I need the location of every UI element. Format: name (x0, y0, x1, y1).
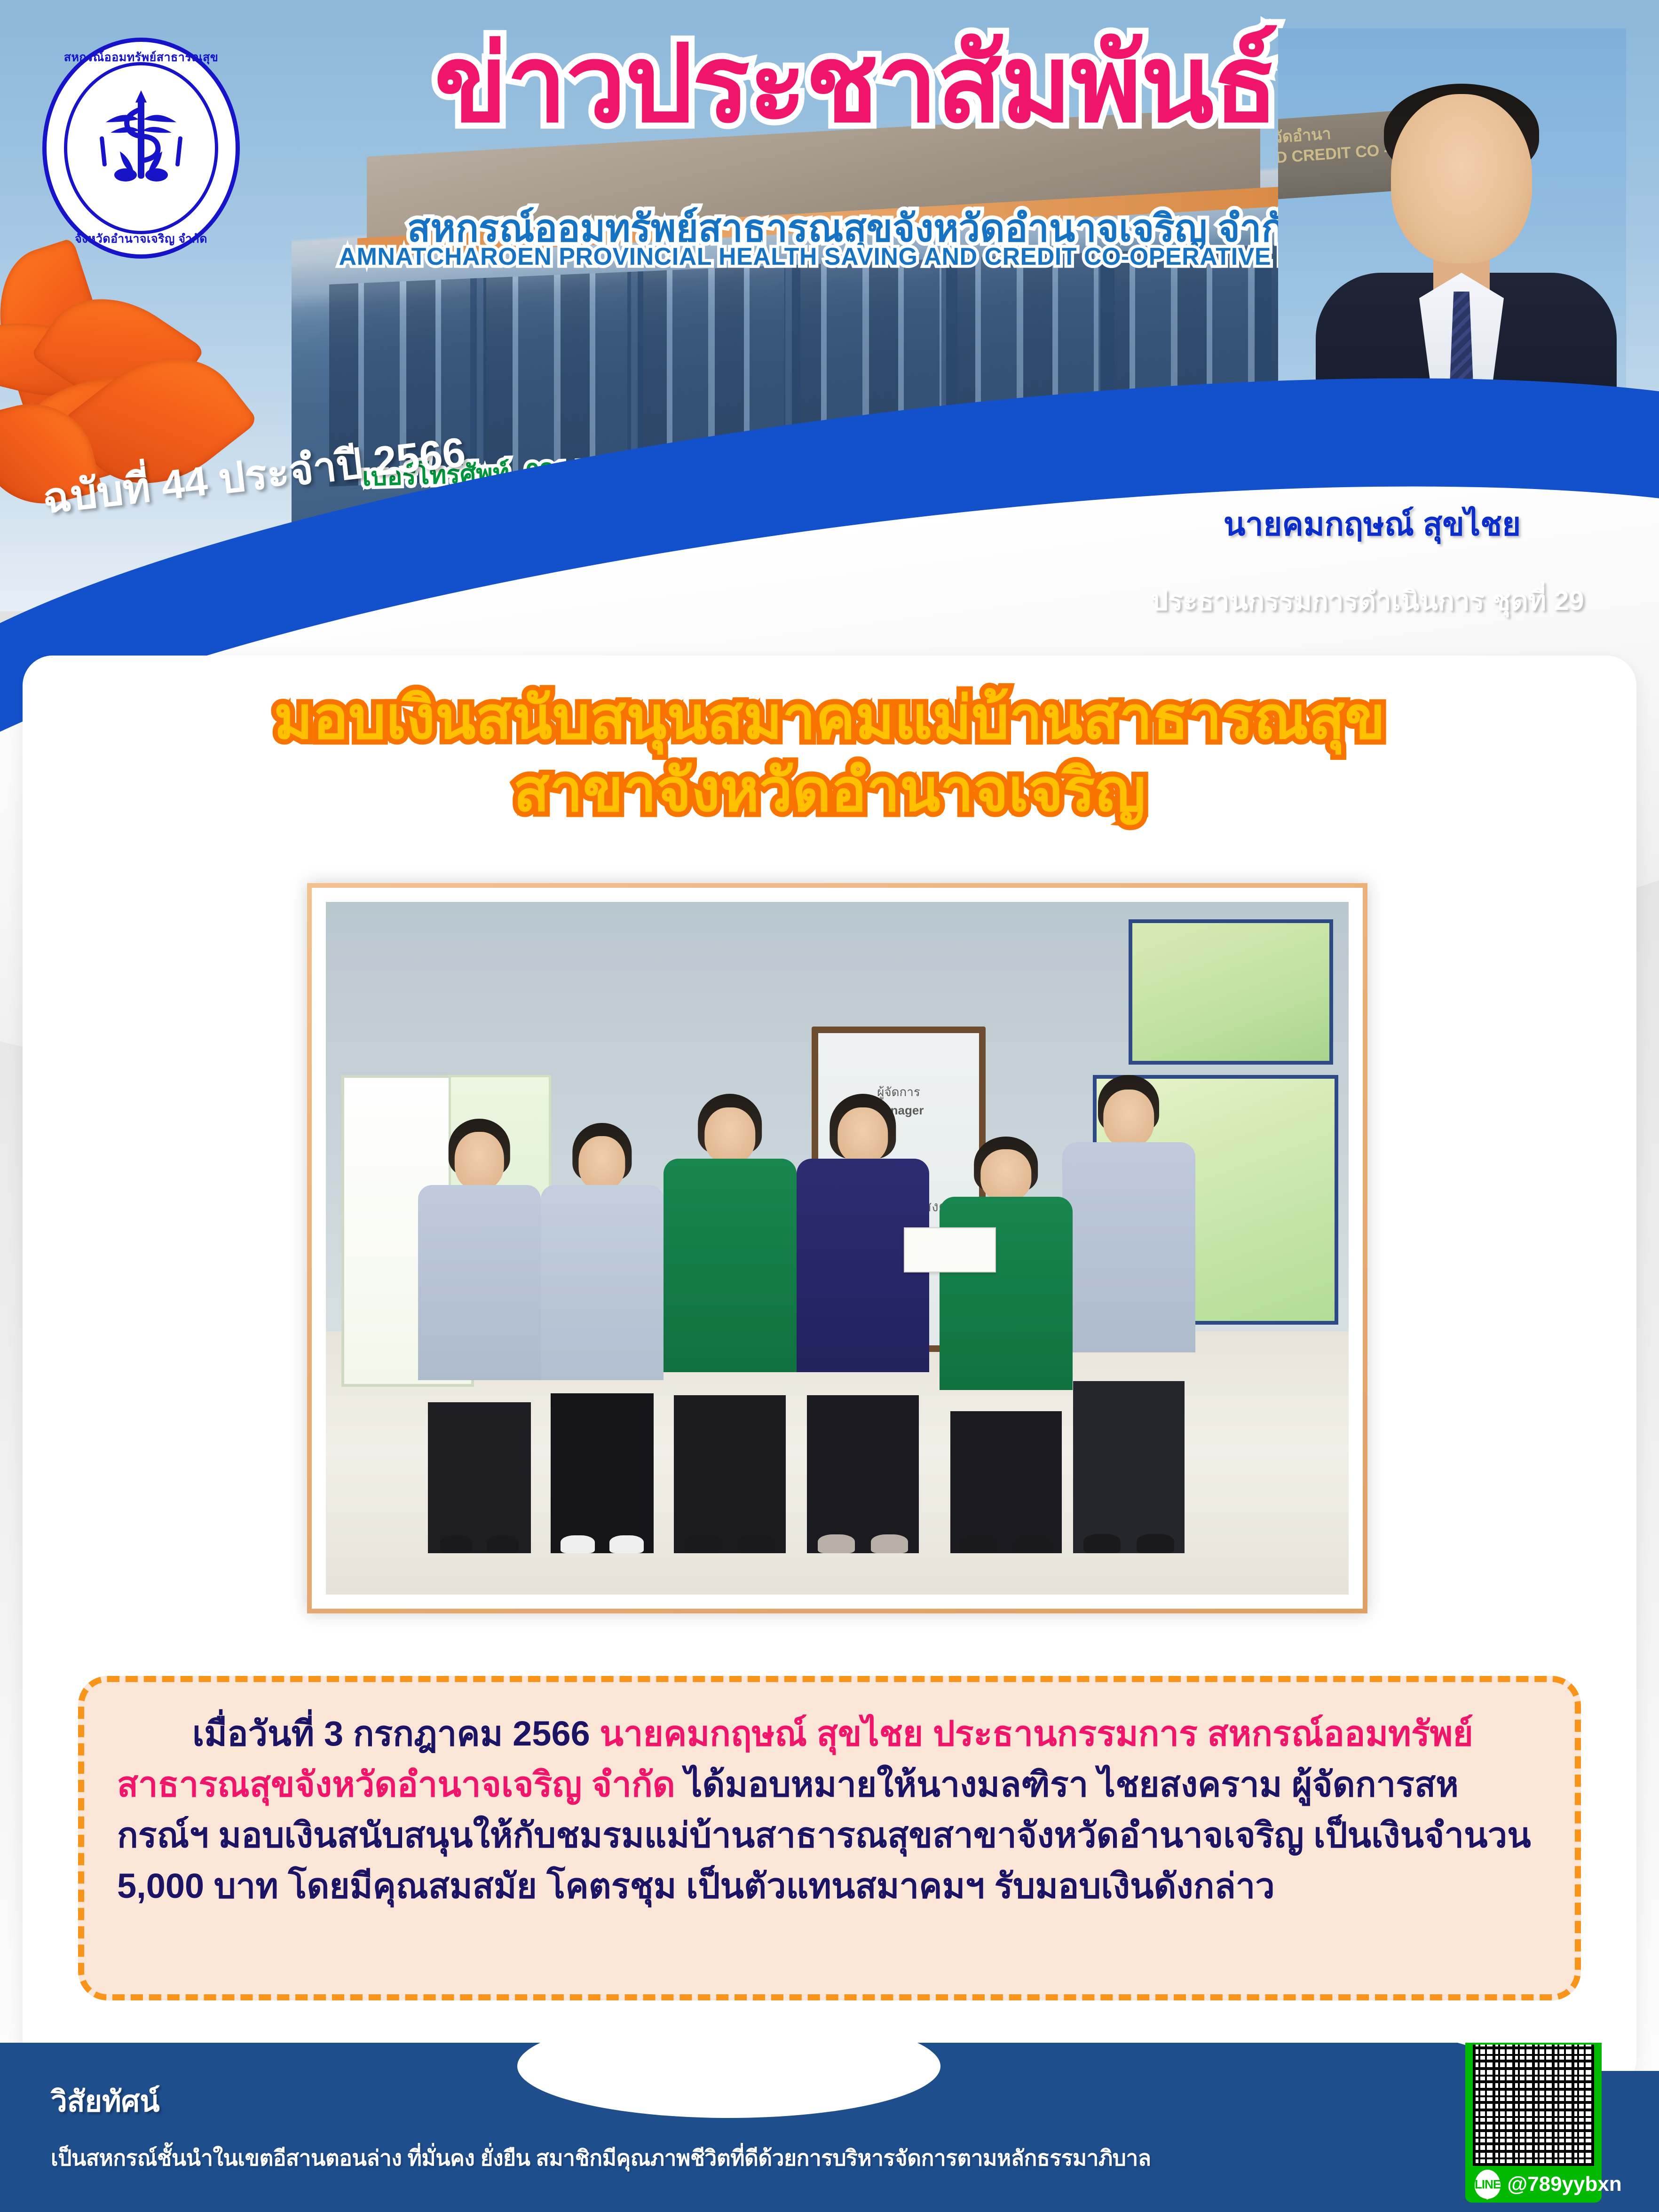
president-role: ประธานกรรมการดำเนินการ ชุดที่ 29 (1104, 578, 1631, 622)
photo-donation-envelope (904, 1227, 996, 1272)
organization-name-english: AMNATCHAROEN PROVINCIAL HEALTH SAVING AN… (329, 243, 1387, 271)
article-body-box: เมื่อวันที่ 3 กรกฎาคม 2566 นายคมกฤษณ์ สุ… (78, 1676, 1581, 2000)
line-qr-badge[interactable]: LINE @789yybxn (1465, 2043, 1602, 2203)
portrait-face (1391, 94, 1532, 263)
news-photo: ผู้จัดการ Manager นางมลฑิรา ไชยสงคราม (326, 902, 1349, 1595)
headline-line-1: มอบเงินสนับสนุนสมาคมแม่บ้านสาธารณสุข (23, 682, 1636, 754)
line-official-id: @789yybxn (1507, 2172, 1621, 2196)
body-part-1: เมื่อวันที่ 3 กรกฎาคม 2566 (192, 1714, 600, 1753)
seal-arc-bottom-text: จังหวัดอำนาจเจริญ จำกัด (42, 229, 240, 248)
photo-person-5-recipient (940, 1123, 1073, 1553)
article-headline: มอบเงินสนับสนุนสมาคมแม่บ้านสาธารณสุข สาข… (23, 682, 1636, 826)
caduceus-icon (96, 81, 186, 189)
page-footer: วิสัยทัศน์ เป็นสหกรณ์ชั้นนำในเขตอีสานตอน… (0, 2043, 1659, 2212)
newsletter-page: สหกรณ์ออมทรัพย์สาธารณสุข จังหวัดอำนาจเจร… (0, 0, 1659, 2212)
page-title: ข่าวประชาสัมพันธ์ (357, 28, 1354, 141)
line-logo-icon: LINE (1475, 2170, 1501, 2199)
vision-title: วิสัยทัศน์ (51, 2078, 160, 2125)
photo-person-2 (541, 1110, 664, 1553)
cooperative-seal-logo: สหกรณ์ออมทรัพย์สาธารณสุข จังหวัดอำนาจเจร… (42, 38, 240, 259)
news-photo-frame: ผู้จัดการ Manager นางมลฑิรา ไชยสงคราม (307, 883, 1367, 1613)
photo-person-4-manager (797, 1089, 930, 1553)
photo-person-3-green-vest (664, 1089, 797, 1553)
photo-person-1 (418, 1110, 541, 1553)
content-card: มอบเงินสนับสนุนสมาคมแม่บ้านสาธารณสุข สาข… (23, 656, 1636, 2090)
article-body-text: เมื่อวันที่ 3 กรกฎาคม 2566 นายคมกฤษณ์ สุ… (117, 1708, 1542, 1912)
qr-code-image (1473, 2045, 1594, 2166)
president-name: นายคมกฤษณ์ สุขไชย (1114, 498, 1631, 549)
vision-statement: เป็นสหกรณ์ชั้นนำในเขตอีสานตอนล่าง ที่มั่… (51, 2141, 1151, 2175)
photo-wall-board-top (1129, 919, 1333, 1065)
headline-line-2: สาขาจังหวัดอำนาจเจริญ (23, 754, 1636, 827)
photo-person-6 (1062, 1075, 1195, 1553)
seal-arc-top-text: สหกรณ์ออมทรัพย์สาธารณสุข (42, 48, 240, 67)
